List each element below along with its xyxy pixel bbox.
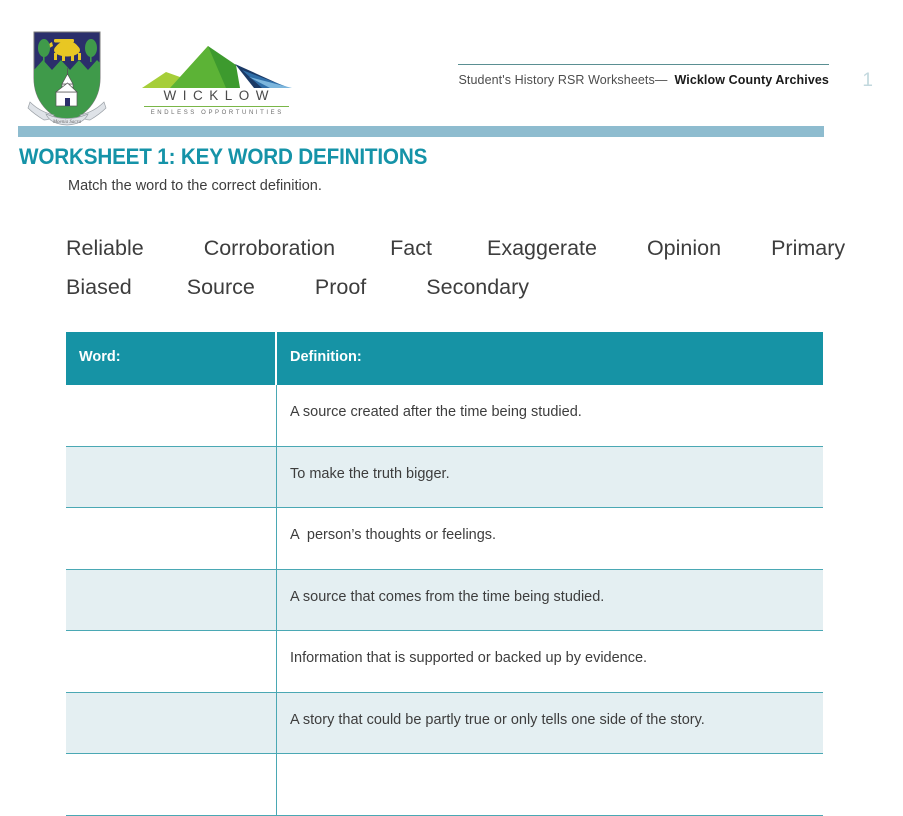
word-answer-cell[interactable] — [66, 693, 277, 754]
wicklow-logo: WICKLOW ENDLESS OPPORTUNITIES — [136, 44, 296, 124]
wicklow-county-coat-of-arms-icon: Moenia Sacra — [24, 26, 110, 126]
document-header: Student's History RSR Worksheets—Wicklow… — [458, 64, 829, 89]
definition-cell — [277, 754, 823, 815]
page-masthead: Moenia Sacra WICKLOW ENDLESS OPPORTUNITI… — [0, 0, 903, 125]
wicklow-mountain-icon — [136, 44, 296, 88]
instruction-text: Match the word to the correct definition… — [68, 178, 322, 194]
header-divider-bar — [18, 126, 824, 137]
word-bank-item[interactable]: Opinion — [647, 236, 721, 261]
word-bank-item[interactable]: Biased — [66, 275, 132, 300]
word-bank-item[interactable]: Fact — [390, 236, 432, 261]
word-bank-item[interactable]: Proof — [315, 275, 366, 300]
wicklow-tagline: ENDLESS OPPORTUNITIES — [136, 110, 296, 116]
table-row: A source created after the time being st… — [66, 385, 823, 447]
document-header-plain: Student's History RSR Worksheets— — [458, 73, 667, 87]
table-row: A source that comes from the time being … — [66, 570, 823, 632]
word-answer-cell[interactable] — [66, 508, 277, 569]
word-bank-item[interactable]: Primary — [771, 236, 845, 261]
definition-cell: A source that comes from the time being … — [277, 570, 823, 631]
definition-cell: A person’s thoughts or feelings. — [277, 508, 823, 569]
document-header-bold: Wicklow County Archives — [674, 73, 829, 87]
column-header-definition: Definition: — [277, 332, 823, 385]
page-number: 1 — [862, 70, 873, 92]
word-bank-item[interactable]: Secondary — [426, 275, 529, 300]
word-bank-item[interactable]: Source — [187, 275, 255, 300]
word-answer-cell[interactable] — [66, 385, 277, 446]
definition-cell: To make the truth bigger. — [277, 447, 823, 508]
wordmark-rule — [144, 106, 289, 107]
word-answer-cell[interactable] — [66, 570, 277, 631]
definition-cell: A source created after the time being st… — [277, 385, 823, 446]
word-answer-cell[interactable] — [66, 447, 277, 508]
word-answer-cell[interactable] — [66, 754, 277, 815]
table-row — [66, 754, 823, 816]
wicklow-wordmark: WICKLOW — [136, 88, 296, 103]
word-bank: ReliableCorroborationFactExaggerateOpini… — [66, 236, 866, 314]
table-row: A story that could be partly true or onl… — [66, 693, 823, 755]
definition-cell: A story that could be partly true or onl… — [277, 693, 823, 754]
table-body: A source created after the time being st… — [66, 385, 823, 816]
table-row: To make the truth bigger. — [66, 447, 823, 509]
table-row: Information that is supported or backed … — [66, 631, 823, 693]
definition-cell: Information that is supported or backed … — [277, 631, 823, 692]
column-header-word: Word: — [66, 332, 277, 385]
table-header-row: Word: Definition: — [66, 332, 823, 385]
word-bank-item[interactable]: Corroboration — [204, 236, 335, 261]
word-answer-cell[interactable] — [66, 631, 277, 692]
word-bank-item[interactable]: Exaggerate — [487, 236, 597, 261]
word-bank-row: BiasedSourceProofSecondary — [66, 275, 866, 300]
table-row: A person’s thoughts or feelings. — [66, 508, 823, 570]
page-title: WORKSHEET 1: KEY WORD DEFINITIONS — [19, 144, 427, 170]
word-bank-row: ReliableCorroborationFactExaggerateOpini… — [66, 236, 866, 261]
svg-text:Moenia Sacra: Moenia Sacra — [52, 120, 82, 125]
word-bank-item[interactable]: Reliable — [66, 236, 144, 261]
matching-table: Word: Definition: A source created after… — [66, 332, 823, 816]
